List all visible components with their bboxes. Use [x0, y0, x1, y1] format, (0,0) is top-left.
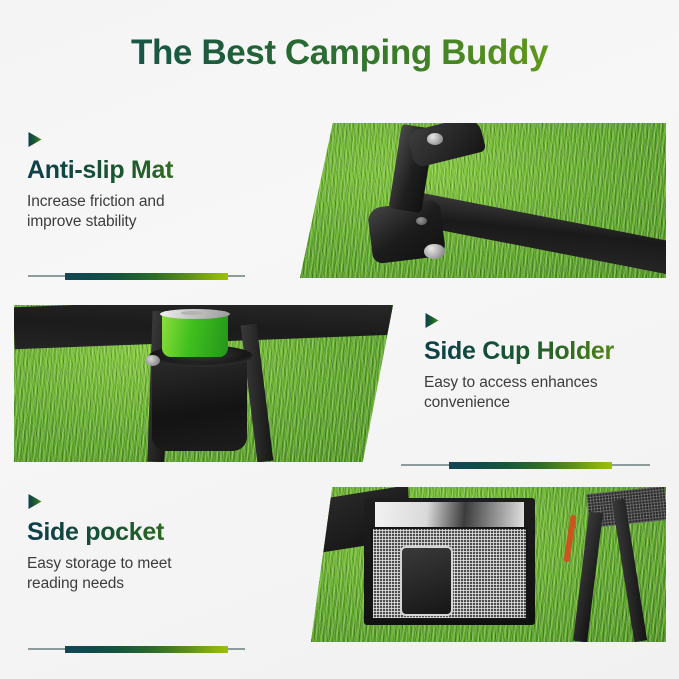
rivet-icon: [416, 217, 427, 225]
triangle-right-icon: [424, 312, 440, 329]
feature-heading-side-pocket: Side pocket: [27, 518, 277, 547]
phone-in-pocket: [400, 546, 453, 616]
page-title: The Best Camping Buddy: [0, 33, 679, 73]
section-divider-2: [401, 461, 650, 469]
feature-description-side-cup-holder: Easy to access enhances convenience: [424, 373, 674, 414]
section-divider-3: [28, 645, 245, 653]
photo-anti-slip-mat: [300, 123, 666, 278]
rivet-icon: [427, 133, 443, 145]
feature-heading-anti-slip-mat: Anti-slip Mat: [27, 156, 277, 185]
section-divider-1: [28, 272, 245, 280]
divider-gradient-bar: [65, 273, 228, 280]
photo-side-pocket: [311, 487, 666, 642]
feature-block-side-cup-holder: Side Cup Holder Easy to access enhances …: [424, 312, 674, 414]
triangle-right-icon: [27, 493, 43, 510]
rivet-icon: [424, 244, 444, 259]
infographic-page: The Best Camping Buddy Anti-slip Mat Inc…: [0, 0, 679, 679]
feature-description-side-pocket: Easy storage to meet reading needs: [27, 554, 277, 595]
divider-gradient-bar: [449, 462, 612, 469]
triangle-right-icon: [27, 131, 43, 148]
magazine-in-pocket: [375, 502, 524, 527]
feature-description-anti-slip-mat: Increase friction and improve stability: [27, 192, 277, 233]
divider-gradient-bar: [65, 646, 228, 653]
feature-block-anti-slip-mat: Anti-slip Mat Increase friction and impr…: [27, 131, 277, 233]
feature-block-side-pocket: Side pocket Easy storage to meet reading…: [27, 493, 277, 595]
feature-heading-side-cup-holder: Side Cup Holder: [424, 337, 674, 366]
photo-side-cup-holder: [14, 305, 393, 462]
